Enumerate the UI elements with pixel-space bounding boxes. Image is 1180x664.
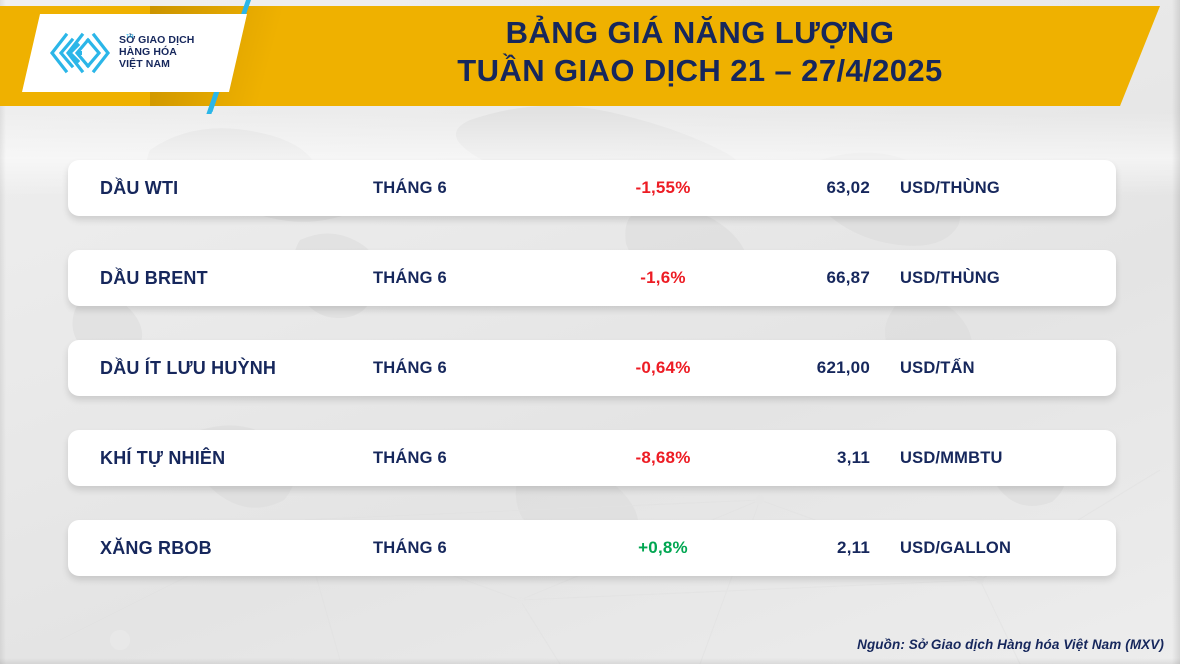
commodity-name: DẦU ÍT LƯU HUỲNH: [100, 358, 276, 379]
commodity-name: KHÍ TỰ NHIÊN: [100, 448, 225, 469]
mxv-maze-logo-icon: [48, 31, 112, 75]
price-value: 2,11: [728, 538, 870, 558]
trademark-icon: TM: [126, 34, 134, 40]
logo-text-block: SỞ GIAO DỊCH HÀNG HÓA VIỆT NAM: [119, 35, 195, 70]
table-row: DẦU WTI THÁNG 6 -1,55% 63,02 USD/THÙNG: [68, 160, 1116, 216]
logo-card: TM SỞ GIAO DỊCH HÀNG HÓA VIỆT NAM: [22, 14, 247, 92]
page-title: BẢNG GIÁ NĂNG LƯỢNG TUẦN GIAO DỊCH 21 – …: [300, 16, 1100, 88]
logo-text-line3: VIỆT NAM: [119, 59, 195, 71]
price-unit: USD/THÙNG: [900, 179, 1000, 198]
price-value: 3,11: [728, 448, 870, 468]
commodity-name: XĂNG RBOB: [100, 538, 212, 559]
commodity-name: DẦU BRENT: [100, 268, 208, 289]
contract-month: THÁNG 6: [373, 179, 447, 198]
source-credit: Nguồn: Sở Giao dịch Hàng hóa Việt Nam (M…: [857, 637, 1164, 652]
page-edge-bottom: [0, 658, 1180, 664]
page-edge-right: [1172, 0, 1180, 664]
table-row: DẦU ÍT LƯU HUỲNH THÁNG 6 -0,64% 621,00 U…: [68, 340, 1116, 396]
price-value: 621,00: [728, 358, 870, 378]
contract-month: THÁNG 6: [373, 449, 447, 468]
table-row: KHÍ TỰ NHIÊN THÁNG 6 -8,68% 3,11 USD/MMB…: [68, 430, 1116, 486]
table-row: DẦU BRENT THÁNG 6 -1,6% 66,87 USD/THÙNG: [68, 250, 1116, 306]
contract-month: THÁNG 6: [373, 269, 447, 288]
price-unit: USD/MMBTU: [900, 449, 1003, 468]
price-unit: USD/GALLON: [900, 539, 1011, 558]
price-unit: USD/TẤN: [900, 359, 975, 378]
price-table: DẦU WTI THÁNG 6 -1,55% 63,02 USD/THÙNG D…: [68, 160, 1116, 576]
contract-month: THÁNG 6: [373, 359, 447, 378]
price-unit: USD/THÙNG: [900, 269, 1000, 288]
title-line-2: TUẦN GIAO DỊCH 21 – 27/4/2025: [300, 54, 1100, 89]
price-value: 63,02: [728, 178, 870, 198]
title-line-1: BẢNG GIÁ NĂNG LƯỢNG: [300, 16, 1100, 51]
contract-month: THÁNG 6: [373, 539, 447, 558]
energy-price-board: TM SỞ GIAO DỊCH HÀNG HÓA VIỆT NAM BẢNG G…: [0, 0, 1180, 664]
commodity-name: DẦU WTI: [100, 178, 178, 199]
table-row: XĂNG RBOB THÁNG 6 +0,8% 2,11 USD/GALLON: [68, 520, 1116, 576]
price-value: 66,87: [728, 268, 870, 288]
